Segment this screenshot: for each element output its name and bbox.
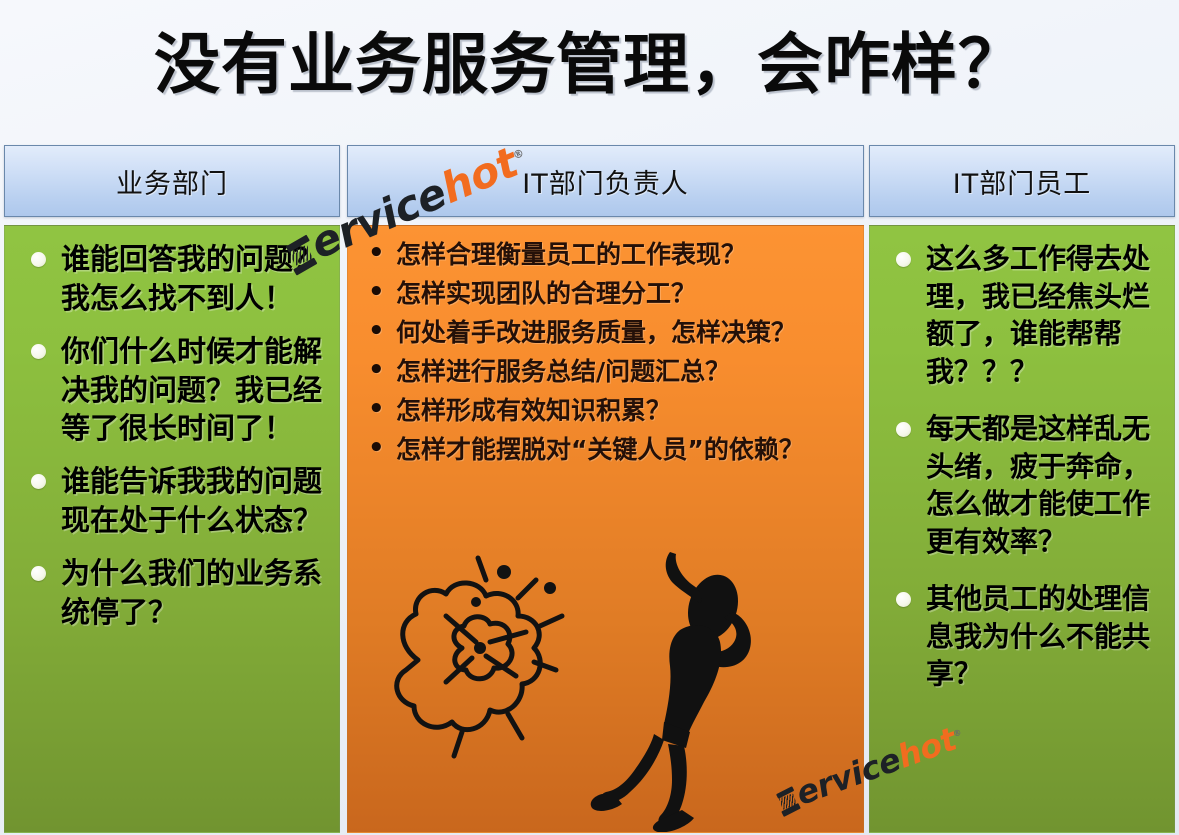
list-item: 其他员工的处理信息我为什么不能共享？ <box>882 580 1164 693</box>
list-item: 谁能告诉我我的问题现在处于什么状态？ <box>17 462 329 540</box>
list-item: 怎样进行服务总结/问题汇总？ <box>362 355 849 388</box>
column-business: 业务部门 谁能回答我的问题？我怎么找不到人！ 你们什么时候才能解决我的问题？我已… <box>4 145 340 833</box>
column-header-business: 业务部门 <box>4 145 340 217</box>
column-it-lead: IT部门负责人 怎样合理衡量员工的工作表现？ 怎样实现团队的合理分工？ 何处着手… <box>347 145 864 833</box>
list-item: 谁能回答我的问题？我怎么找不到人！ <box>17 240 329 318</box>
bullet-list-it-lead: 怎样合理衡量员工的工作表现？ 怎样实现团队的合理分工？ 何处着手改进服务质量，怎… <box>348 226 863 466</box>
list-item: 每天都是这样乱无头绪，疲于奔命，怎么做才能使工作更有效率？ <box>882 410 1164 560</box>
stressed-stick-figure-with-explosion-icon <box>358 542 863 832</box>
column-it-staff: IT部门员工 这么多工作得去处理，我已经焦头烂额了，谁能帮帮我？？？ 每天都是这… <box>869 145 1175 833</box>
bullet-list-business: 谁能回答我的问题？我怎么找不到人！ 你们什么时候才能解决我的问题？我已经等了很长… <box>5 226 339 632</box>
list-item: 怎样形成有效知识积累？ <box>362 394 849 427</box>
list-item: 怎样合理衡量员工的工作表现？ <box>362 238 849 271</box>
slide: 没有业务服务管理，会咋样？ 业务部门 谁能回答我的问题？我怎么找不到人！ 你们什… <box>0 0 1179 835</box>
column-header-label: IT部门负责人 <box>522 162 688 201</box>
column-header-it-lead: IT部门负责人 <box>347 145 864 217</box>
list-item: 为什么我们的业务系统停了？ <box>17 554 329 632</box>
list-item: 你们什么时候才能解决我的问题？我已经等了很长时间了！ <box>17 332 329 449</box>
column-body-it-lead: 怎样合理衡量员工的工作表现？ 怎样实现团队的合理分工？ 何处着手改进服务质量，怎… <box>347 225 864 833</box>
list-item: 这么多工作得去处理，我已经焦头烂额了，谁能帮帮我？？？ <box>882 240 1164 390</box>
list-item: 怎样实现团队的合理分工？ <box>362 277 849 310</box>
list-item: 何处着手改进服务质量，怎样决策？ <box>362 316 849 349</box>
column-header-label: IT部门员工 <box>953 162 1091 201</box>
column-header-label: 业务部门 <box>116 162 228 201</box>
list-item: 怎样才能摆脱对“关键人员”的依赖？ <box>362 433 849 466</box>
bullet-list-it-staff: 这么多工作得去处理，我已经焦头烂额了，谁能帮帮我？？？ 每天都是这样乱无头绪，疲… <box>870 226 1174 693</box>
column-body-business: 谁能回答我的问题？我怎么找不到人！ 你们什么时候才能解决我的问题？我已经等了很长… <box>4 225 340 833</box>
page-title: 没有业务服务管理，会咋样？ <box>0 4 1179 114</box>
column-body-it-staff: 这么多工作得去处理，我已经焦头烂额了，谁能帮帮我？？？ 每天都是这样乱无头绪，疲… <box>869 225 1175 833</box>
column-header-it-staff: IT部门员工 <box>869 145 1175 217</box>
